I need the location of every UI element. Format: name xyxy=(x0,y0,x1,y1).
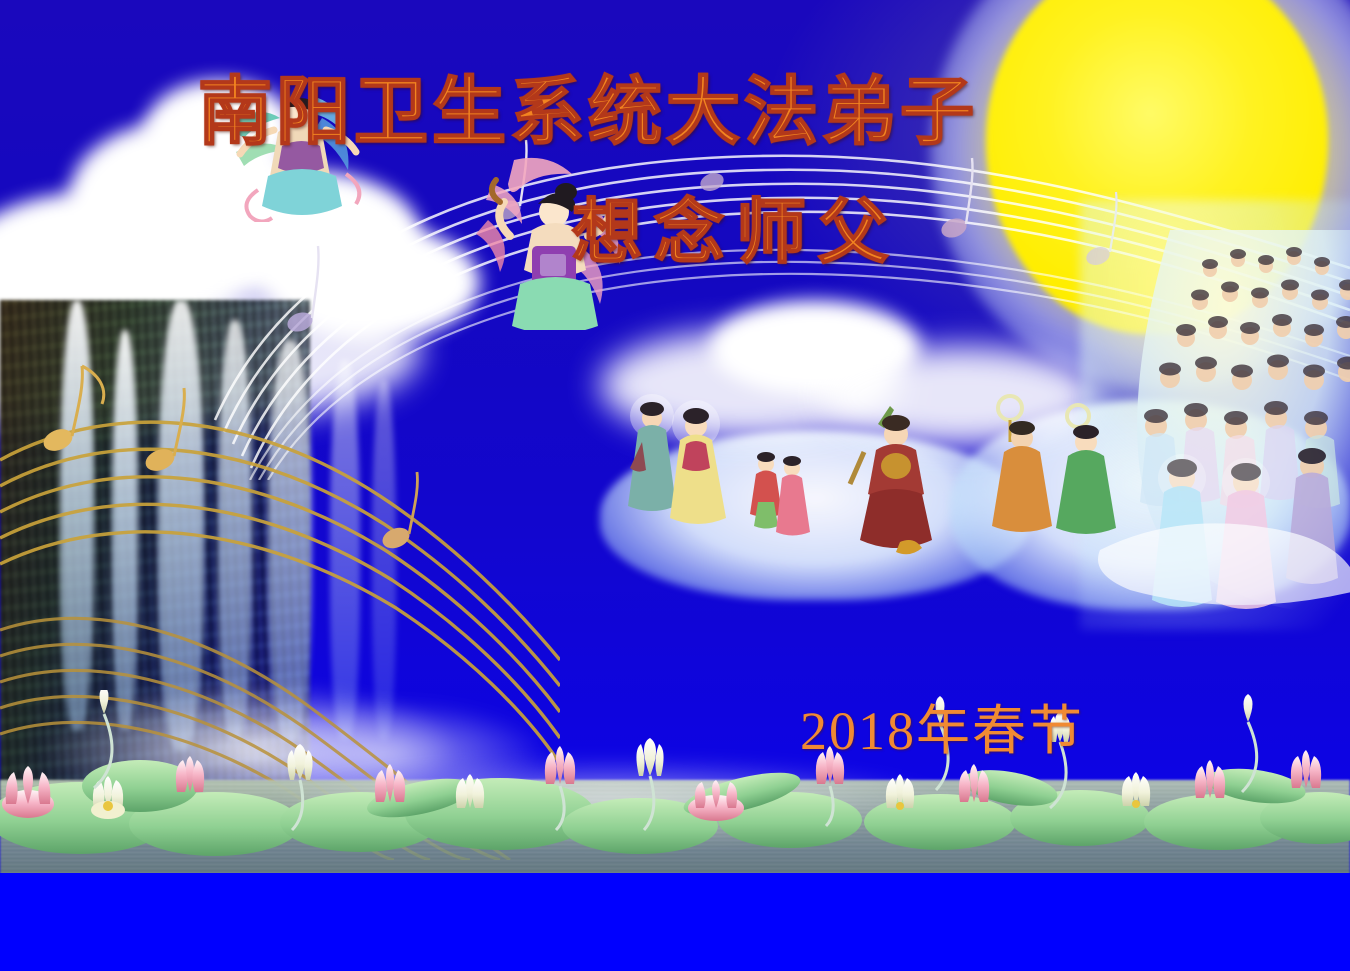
figure-child-green xyxy=(750,452,782,529)
waterfall-stream-1 xyxy=(60,300,94,730)
figure-lady-green xyxy=(1056,405,1116,534)
waterfall-stream-4 xyxy=(218,320,252,740)
figure-lady-yellow xyxy=(670,400,726,524)
greeting-poster: 南阳卫生系统大法弟子 想念师父 2018年春节 xyxy=(0,0,1350,971)
cloud-figure-group xyxy=(600,390,1120,620)
waterfall-stream-6 xyxy=(330,360,360,740)
waterfall-stream-2 xyxy=(112,330,138,730)
poster-date-text: 2018年春节 xyxy=(800,686,1084,765)
lotus-garden xyxy=(0,690,1350,890)
bottom-blue-band xyxy=(0,873,1350,971)
figure-warrior xyxy=(850,406,932,554)
poster-title-line-1: 南阳卫生系统大法弟子 xyxy=(198,52,978,159)
waterfall-stream-7 xyxy=(372,380,396,740)
figure-child-red xyxy=(776,456,810,536)
figure-monk-fan xyxy=(992,396,1052,532)
poster-title-line-2: 想念师父 xyxy=(572,176,900,277)
figure-lady-pipa xyxy=(628,394,676,511)
